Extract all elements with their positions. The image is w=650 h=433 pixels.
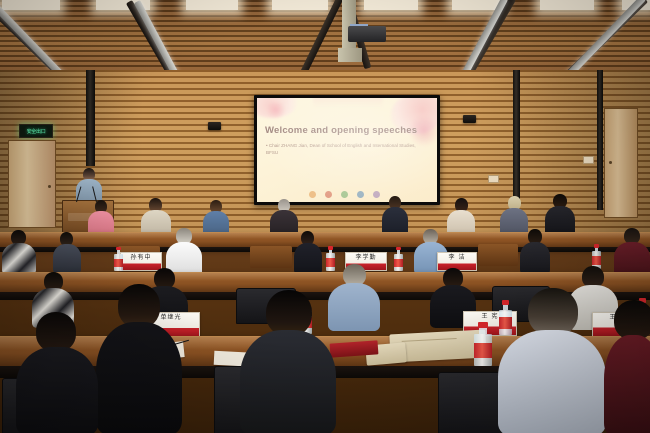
chair-back (250, 246, 292, 268)
torso (614, 242, 650, 276)
audience-member (520, 229, 550, 273)
audience-member (2, 230, 36, 272)
side-door (604, 108, 638, 218)
ceiling-beam (0, 2, 112, 72)
audience-member (53, 232, 81, 272)
exit-sign-label: 安全出口 (27, 128, 46, 135)
audience-member (88, 200, 114, 236)
ceiling-projector (330, 0, 392, 66)
audience-member (614, 228, 650, 274)
chair-back (478, 244, 518, 266)
ceiling (0, 0, 650, 72)
torso (240, 330, 336, 433)
placard-label: 李学勤 (355, 255, 376, 261)
audience-member-foreground (604, 300, 650, 433)
torso (520, 242, 550, 274)
ceiling-light-strip (535, 0, 646, 72)
water-bottle (114, 247, 123, 271)
torso (96, 322, 182, 433)
conference-hall-photo: 安全出口 Welcome and opening speeches • Chai… (0, 0, 650, 433)
water-bottle (394, 247, 403, 271)
torso (604, 335, 650, 433)
wall-plate (583, 156, 594, 164)
head (528, 288, 578, 336)
audience-member (203, 200, 229, 236)
torso (2, 243, 36, 274)
head (36, 312, 76, 352)
audience-member (294, 231, 322, 273)
wall-speaker (463, 115, 476, 123)
placard-label: 李 洁 (449, 255, 466, 261)
projection-screen-frame: Welcome and opening speeches • Chair ZHA… (254, 95, 440, 205)
placard-label: 王 宪 (482, 314, 499, 320)
projection-screen: Welcome and opening speeches • Chair ZHA… (257, 98, 437, 202)
table-front-row3 (0, 247, 650, 252)
torso (294, 243, 322, 274)
audience-member-foreground (240, 290, 336, 433)
water-bottle (474, 322, 492, 366)
audience-member-foreground (96, 284, 182, 433)
audience-member-foreground (498, 288, 606, 433)
placard-label: 孙有中 (130, 255, 151, 261)
audience-member (447, 198, 475, 236)
back-door (8, 140, 56, 228)
audience-member-foreground (16, 312, 98, 433)
wall-plate (488, 175, 499, 183)
torso (16, 347, 98, 433)
ceiling-light-strip (457, 0, 508, 72)
audience-member (382, 196, 408, 234)
wall-speaker (208, 122, 221, 130)
exit-sign: 安全出口 (19, 124, 53, 138)
head (614, 300, 650, 340)
torso (382, 207, 408, 235)
torso (498, 330, 606, 433)
torso (53, 244, 81, 273)
conference-table-row3 (0, 232, 650, 248)
